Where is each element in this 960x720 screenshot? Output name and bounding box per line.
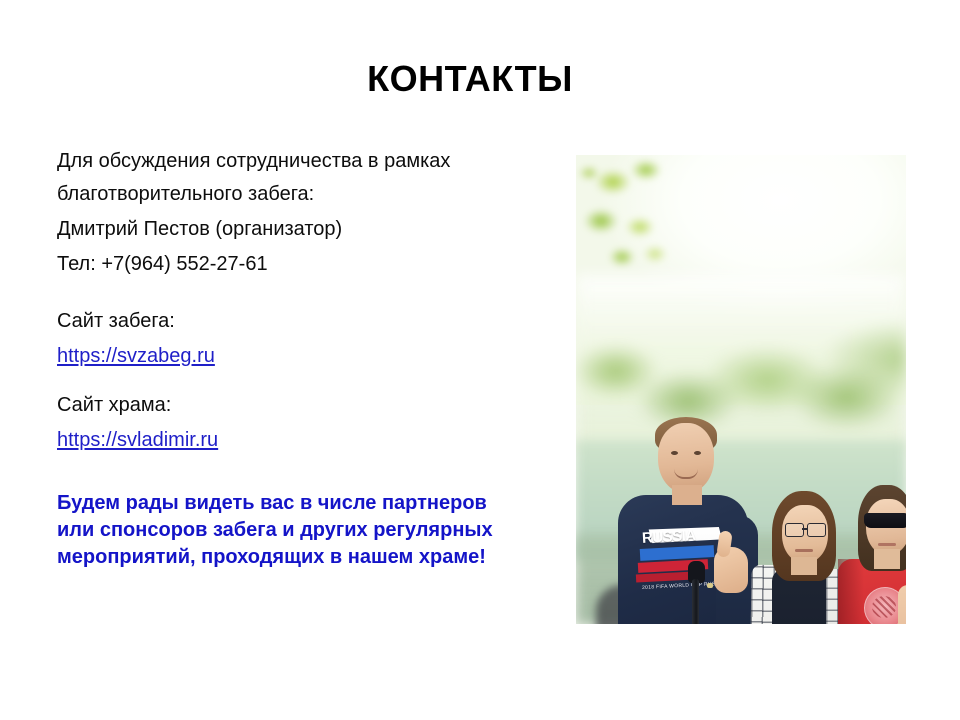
temple-site-link-row: https://svladimir.ru [57, 427, 552, 454]
photo-vest-emblem-inner [872, 596, 896, 618]
temple-site-label: Сайт храма: [57, 392, 552, 419]
spacer-2 [57, 370, 552, 392]
photo-volunteer-arm [898, 585, 906, 624]
organizer-name: Дмитрий Пестов (организатор) [57, 216, 552, 243]
partnership-callout: Будем рады видеть вас в числе партнеров … [57, 490, 547, 571]
photo-woman-eyeglass-right [807, 523, 826, 537]
photo-man-left-eye [671, 451, 678, 455]
photo-woman-eyeglass-left [785, 523, 804, 537]
spacer-1 [57, 286, 552, 308]
photo-man-right-eye [694, 451, 701, 455]
event-photo: RUSSIA 2018 FIFA WORLD CUP RUSSIA [576, 155, 906, 624]
photo-foreground-leaves [576, 155, 718, 299]
photo-man-face [658, 423, 714, 493]
slide-canvas: КОНТАКТЫ Для обсуждения сотрудничества в… [0, 0, 960, 720]
spacer-3 [57, 454, 552, 488]
photo-tree-canopy [576, 275, 906, 450]
contact-text-column: Для обсуждения сотрудничества в рамках б… [57, 148, 552, 571]
intro-line-1: Для обсуждения сотрудничества в рамках [57, 148, 552, 175]
intro-line-2: благотворительного забега: [57, 181, 552, 208]
photo-volunteer-neck [874, 549, 900, 569]
callout-line-3: мероприятий, проходящих в нашем храме! [57, 544, 547, 571]
photo-man-ring [707, 583, 713, 588]
photo-microphone-body [692, 579, 699, 624]
photo-volunteer-vest-shadow [838, 559, 864, 624]
race-site-label: Сайт забега: [57, 308, 552, 335]
photo-volunteer-mouth [878, 543, 896, 546]
race-site-link[interactable]: https://svzabeg.ru [57, 343, 215, 370]
photo-man-neck [672, 485, 702, 505]
phone-number: Тел: +7(964) 552-27-61 [57, 251, 552, 278]
callout-line-1: Будем рады видеть вас в числе партнеров [57, 490, 547, 517]
callout-line-2: или спонсоров забега и других регулярных [57, 517, 547, 544]
race-site-link-row: https://svzabeg.ru [57, 343, 552, 370]
sunglasses-icon [864, 513, 906, 528]
photo-woman-mouth [795, 549, 813, 552]
temple-site-link[interactable]: https://svladimir.ru [57, 427, 218, 454]
photo-woman-neck [791, 557, 817, 575]
page-title: КОНТАКТЫ [0, 57, 940, 101]
photo-woman-eyeglass-bridge [802, 528, 808, 530]
